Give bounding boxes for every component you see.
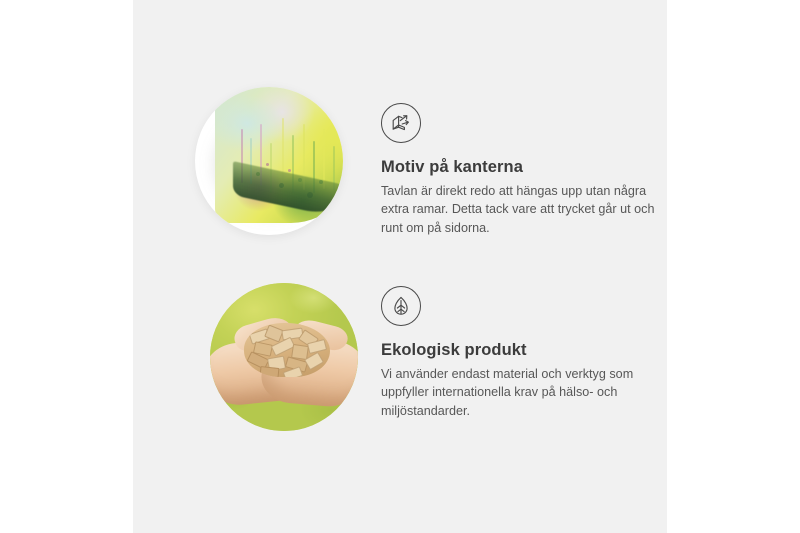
feature-body-eco: Vi använder endast material och verktyg … <box>381 365 659 421</box>
product-feature-panel: Motiv på kanterna Tavlan är direkt redo … <box>0 0 800 533</box>
feature-body-edges: Tavlan är direkt redo att hängas upp uta… <box>381 182 659 238</box>
leaf-glyph <box>389 294 413 318</box>
feature-block-edges: Motiv på kanterna Tavlan är direkt redo … <box>133 75 667 265</box>
feature-text-eco: Ekologisk produkt Vi använder endast mat… <box>381 286 659 420</box>
canvas-corner-photo <box>195 87 343 235</box>
canvas-wrapped-edge-icon <box>381 103 421 143</box>
feature-text-edges: Motiv på kanterna Tavlan är direkt redo … <box>381 103 659 237</box>
leaf-icon <box>381 286 421 326</box>
canvas-wrapped-edge-glyph <box>389 111 413 135</box>
wood-chip-pile <box>244 323 330 377</box>
hands-with-wood-chips-photo <box>210 283 358 431</box>
feature-block-eco: Ekologisk produkt Vi använder endast mat… <box>133 258 667 448</box>
content-panel: Motiv på kanterna Tavlan är direkt redo … <box>133 0 667 533</box>
feature-title-eco: Ekologisk produkt <box>381 340 659 361</box>
feature-title-edges: Motiv på kanterna <box>381 157 659 178</box>
canvas-artwork <box>215 87 343 223</box>
